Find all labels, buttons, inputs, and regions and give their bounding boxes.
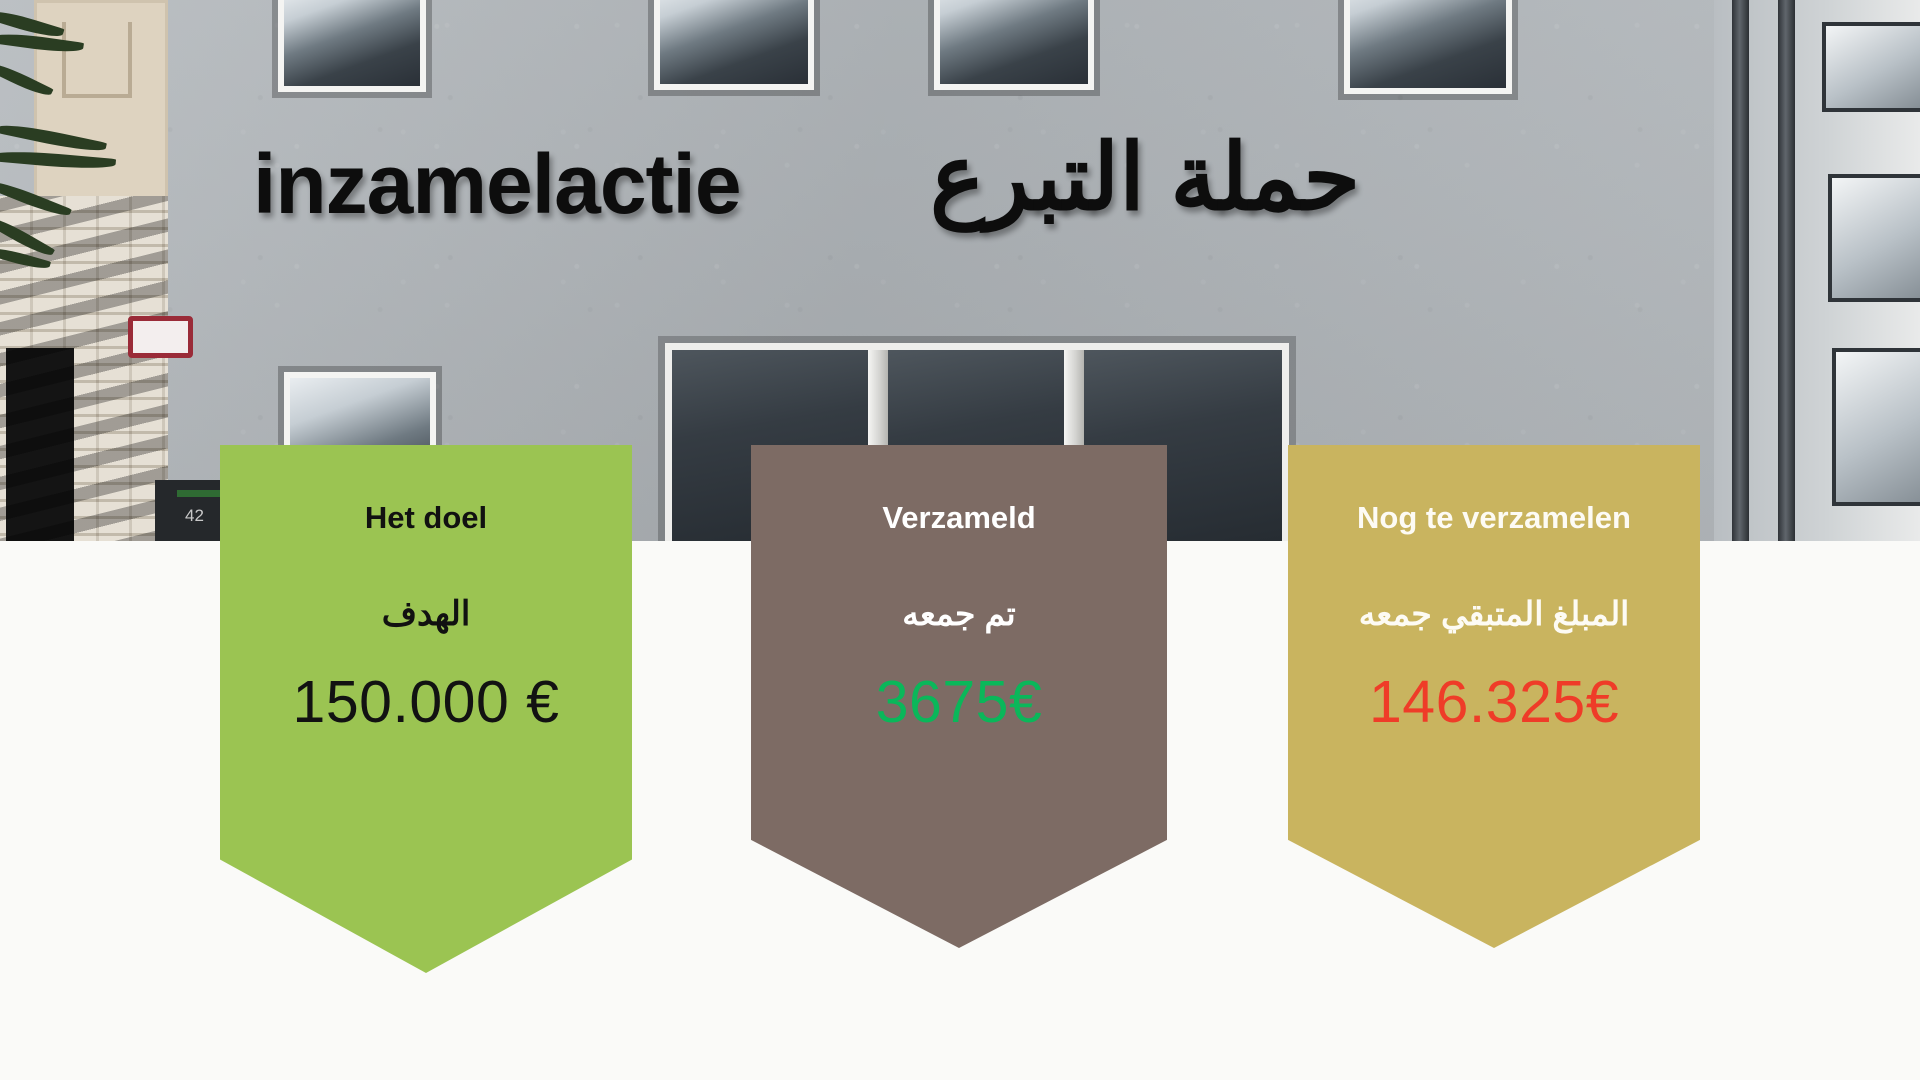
- window-glass: [1350, 0, 1506, 88]
- left-building: [0, 0, 168, 541]
- right-building: [1714, 0, 1920, 541]
- ribbon-remaining: Nog te verzamelen المبلغ المتبقي جمعه 14…: [1288, 445, 1700, 948]
- ribbon-remaining-amount: 146.325€: [1288, 673, 1700, 732]
- ribbon-collected-amount: 3675€: [751, 673, 1167, 732]
- window-glass: [284, 0, 420, 86]
- upper-window-1: [284, 0, 420, 86]
- upper-window-2: [660, 0, 808, 84]
- ribbon-goal-amount: 150.000 €: [220, 673, 632, 732]
- plant-leaves: [0, 0, 138, 300]
- ribbon-remaining-title-ar: المبلغ المتبقي جمعه: [1288, 594, 1700, 634]
- ribbon-collected-title-nl: Verzameld: [751, 501, 1167, 535]
- downpipe-2: [1778, 0, 1795, 541]
- headline-arabic: حملة التبرع: [930, 128, 1360, 229]
- meter-label-strip: [177, 490, 221, 497]
- ribbon-collected: Verzameld تم جمعه 3675€: [751, 445, 1167, 948]
- ribbon-goal-title-nl: Het doel: [220, 501, 632, 535]
- window-glass: [940, 0, 1088, 84]
- headline-dutch: inzamelactie: [253, 142, 741, 226]
- ribbon-goal-title-ar: الهدف: [220, 594, 632, 635]
- upper-window-4: [1350, 0, 1506, 88]
- window-glass: [660, 0, 808, 84]
- right-window-top: [1826, 26, 1920, 108]
- upper-window-3: [940, 0, 1088, 84]
- campaign-infographic: inzamelactie حملة التبرع Het doel الهدف …: [0, 0, 1920, 1080]
- right-window-mid: [1832, 178, 1920, 298]
- downpipe-1: [1732, 0, 1749, 541]
- ribbon-goal: Het doel الهدف 150.000 €: [220, 445, 632, 973]
- red-wall-sign: [128, 316, 193, 358]
- right-window-bottom: [1836, 352, 1920, 502]
- ribbon-remaining-title-nl: Nog te verzamelen: [1288, 501, 1700, 535]
- ribbon-collected-title-ar: تم جمعه: [751, 594, 1167, 634]
